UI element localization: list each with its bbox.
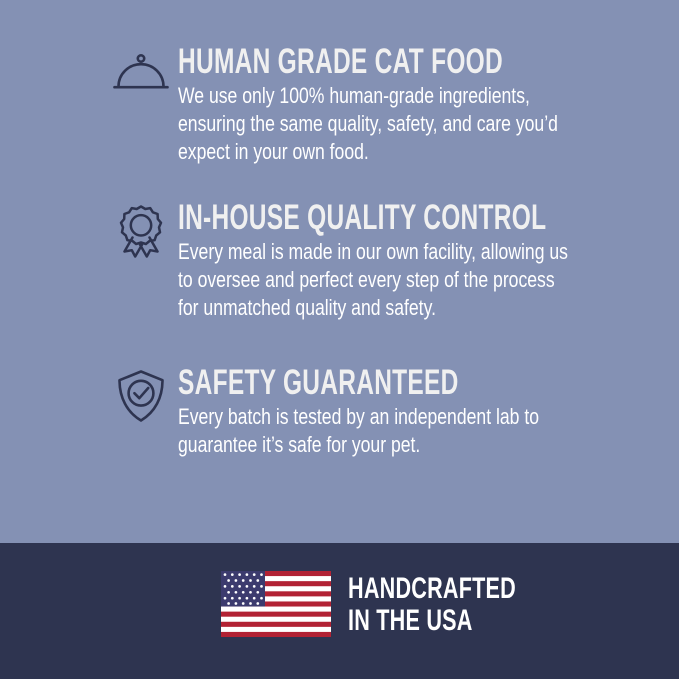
feature-item-human-grade: HUMAN GRADE CAT FOOD We use only 100% hu… [110, 44, 670, 166]
feature-title: HUMAN GRADE CAT FOOD [178, 44, 522, 80]
banner-text: HANDCRAFTED IN THE USA [348, 572, 581, 637]
shield-check-icon [110, 365, 172, 427]
cloche-icon [110, 44, 172, 106]
feature-text-block: SAFETY GUARANTEED Every batch is tested … [178, 365, 670, 459]
banner-content: HANDCRAFTED IN THE USA [221, 571, 581, 637]
features-panel: HUMAN GRADE CAT FOOD We use only 100% hu… [0, 0, 679, 543]
feature-text-block: HUMAN GRADE CAT FOOD We use only 100% hu… [178, 44, 670, 166]
made-in-usa-banner: HANDCRAFTED IN THE USA [0, 543, 679, 679]
feature-item-quality-control: IN-HOUSE QUALITY CONTROL Every meal is m… [110, 200, 670, 322]
banner-line-1: HANDCRAFTED [348, 573, 516, 605]
feature-description: We use only 100% human-grade ingredients… [178, 82, 674, 166]
us-flag-icon [221, 571, 331, 637]
feature-title: IN-HOUSE QUALITY CONTROL [178, 200, 522, 236]
promo-panel: HUMAN GRADE CAT FOOD We use only 100% hu… [0, 0, 679, 679]
feature-description: Every batch is tested by an independent … [178, 403, 674, 459]
banner-line-2: IN THE USA [348, 605, 516, 637]
feature-text-block: IN-HOUSE QUALITY CONTROL Every meal is m… [178, 200, 670, 322]
feature-description: Every meal is made in our own facility, … [178, 238, 674, 322]
award-rosette-icon [110, 200, 172, 262]
feature-title: SAFETY GUARANTEED [178, 365, 522, 401]
feature-item-safety: SAFETY GUARANTEED Every batch is tested … [110, 365, 670, 459]
